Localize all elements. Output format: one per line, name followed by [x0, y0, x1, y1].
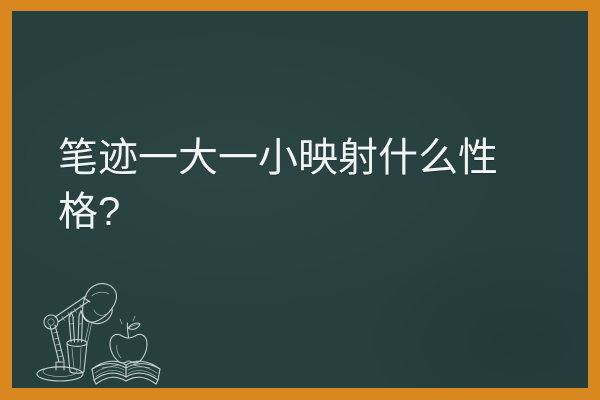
open-book-icon	[92, 361, 160, 384]
chalkboard-surface: 笔迹一大一小映射什么性格?	[12, 11, 588, 388]
apple-icon	[110, 316, 147, 363]
chalk-illustration	[26, 266, 186, 386]
chalkboard-card: 笔迹一大一小映射什么性格?	[0, 0, 600, 400]
headline-text: 笔迹一大一小映射什么性格?	[58, 131, 558, 239]
pencil-cup-icon	[67, 311, 92, 374]
desk-lamp-icon	[37, 284, 117, 381]
